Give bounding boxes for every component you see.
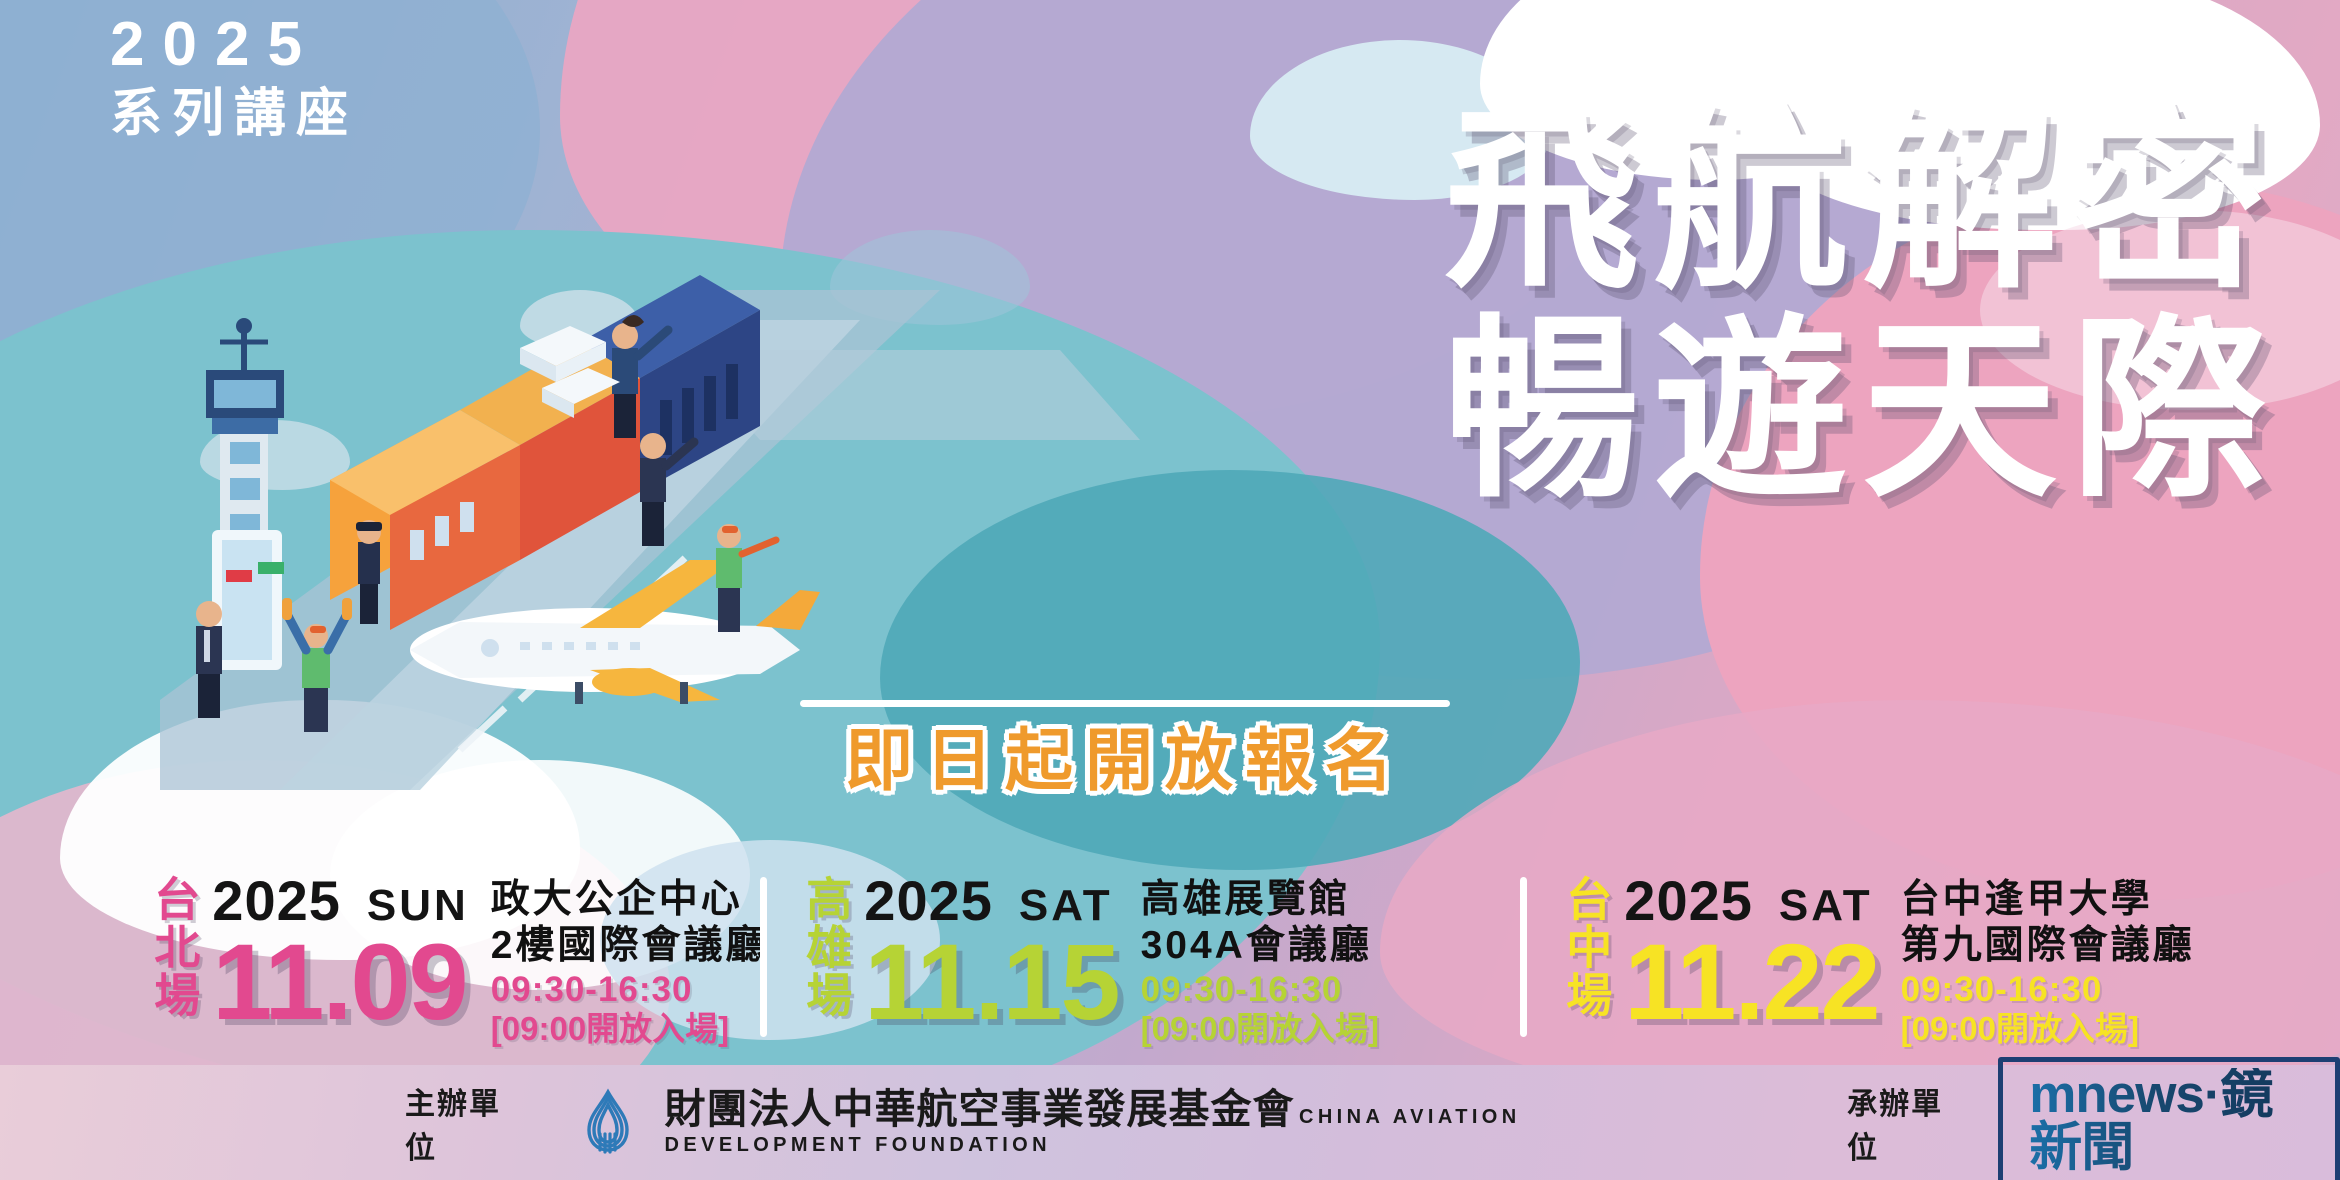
session-time: 09:30-16:30 [491, 969, 768, 1010]
series-subtitle: 系列講座 [110, 88, 358, 140]
venue-line-1: 高雄展覽館 [1141, 877, 1379, 923]
venue-line-2: 2樓國際會議廳 [491, 923, 768, 969]
session-time: 09:30-16:30 [1901, 969, 2195, 1010]
session-block-taipei[interactable]: 台北場 2025 SUN 11.09 政大公企中心 2樓國際會議廳 09:30-… [0, 855, 760, 1070]
sponsor-footer: 主辦單位 財團法人中華航空事業發展基 [0, 1065, 2340, 1180]
host-group: 主辦單位 財團法人中華航空事業發展基 [405, 1079, 1697, 1167]
session-date-group: 2025 SUN 11.09 [212, 873, 468, 1034]
host-name-zh: 財團法人中華航空事業發展基金會 [665, 1086, 1295, 1132]
person-passenger [196, 601, 222, 718]
session-door-open: [09:00開放入場] [491, 1010, 768, 1049]
host-label: 主辦單位 [405, 1079, 511, 1167]
registration-callout: 即日起開放報名 [800, 700, 1450, 795]
title-line-1: 飛航解密 [1444, 105, 2280, 300]
session-venue-group: 高雄展覽館 304A會議廳 09:30-16:30 [09:00開放入場] [1141, 873, 1379, 1049]
security-gate [212, 530, 284, 670]
session-city-kaohsiung: 高雄場 [802, 873, 850, 1019]
session-block-taichung[interactable]: 台中場 2025 SAT 11.22 台中逢甲大學 第九國際會議廳 09:30-… [1520, 855, 2340, 1070]
session-venue-group: 政大公企中心 2樓國際會議廳 09:30-16:30 [09:00開放入場] [491, 873, 768, 1049]
host-name-group: 財團法人中華航空事業發展基金會 CHINA AVIATION DEVELOPME… [665, 1087, 1698, 1158]
session-divider [760, 877, 767, 1037]
session-date-bar: 台北場 2025 SUN 11.09 政大公企中心 2樓國際會議廳 09:30-… [0, 855, 2340, 1070]
session-date: 11.15 [864, 931, 1118, 1034]
session-date: 11.22 [1624, 931, 1878, 1034]
session-city-taichung: 台中場 [1562, 873, 1610, 1019]
venue-line-2: 第九國際會議廳 [1901, 923, 2195, 969]
promo-poster: 2025 系列講座 飛航解密 暢遊天際 即日起開放報名 台北場 2025 SUN… [0, 0, 2340, 1180]
series-year: 2025 [110, 14, 358, 76]
session-date-group: 2025 SAT 11.15 [864, 873, 1118, 1034]
flame-droplet-icon [569, 1084, 647, 1162]
title-line-2: 暢遊天際 [1444, 314, 2280, 509]
session-date: 11.09 [212, 931, 468, 1034]
venue-line-2: 304A會議廳 [1141, 923, 1379, 969]
person-ground-crew-2 [716, 524, 776, 632]
session-time: 09:30-16:30 [1141, 969, 1379, 1010]
session-door-open: [09:00開放入場] [1141, 1010, 1379, 1049]
organizer-label: 承辦單位 [1847, 1079, 1950, 1167]
session-divider [1520, 877, 1527, 1037]
page-title: 飛航解密 暢遊天際 [1444, 105, 2280, 509]
series-label: 2025 系列講座 [110, 14, 358, 140]
venue-line-1: 政大公企中心 [491, 877, 768, 923]
registration-open-text: 即日起開放報名 [800, 727, 1450, 795]
session-block-kaohsiung[interactable]: 高雄場 2025 SAT 11.15 高雄展覽館 304A會議廳 09:30-1… [760, 855, 1520, 1070]
session-door-open: [09:00開放入場] [1901, 1010, 2195, 1049]
organizer-name: mnews·鏡新聞 [2029, 1068, 2309, 1174]
callout-divider [800, 700, 1450, 707]
venue-line-1: 台中逢甲大學 [1901, 877, 2195, 923]
mnews-logo-icon[interactable]: mnews·鏡新聞 [1998, 1057, 2340, 1180]
session-city-taipei: 台北場 [150, 873, 198, 1019]
session-venue-group: 台中逢甲大學 第九國際會議廳 09:30-16:30 [09:00開放入場] [1901, 873, 2195, 1049]
organizer-group: 承辦單位 mnews·鏡新聞 [1847, 1057, 2340, 1180]
session-date-group: 2025 SAT 11.22 [1624, 873, 1878, 1034]
